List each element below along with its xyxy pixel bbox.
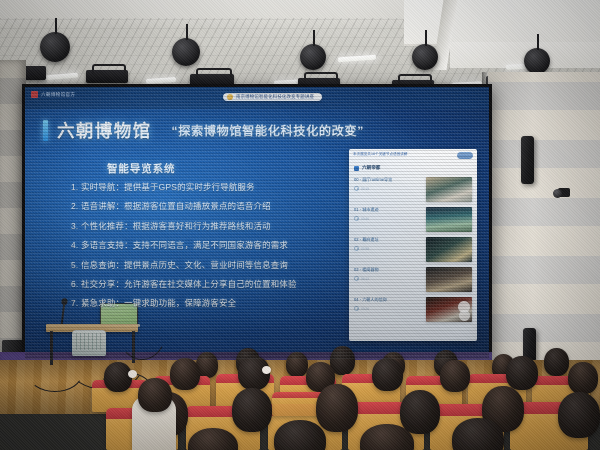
table-leg [50, 331, 53, 365]
play-icon[interactable] [354, 246, 359, 251]
track-duration: 04:12 [361, 277, 369, 281]
audience-head [104, 362, 132, 392]
play-icon[interactable] [354, 306, 359, 311]
wall-speaker-icon [521, 136, 534, 184]
track-duration: 03:26 [361, 307, 369, 311]
app-track-list: 00 - 展厅runtime导览 02:15 01 - 城市遗迹 03:40 [349, 174, 477, 324]
hair-tie [262, 366, 271, 374]
audience-head [506, 356, 538, 390]
section-heading: 智能导览系统 [107, 161, 175, 176]
banner-emblem-icon [227, 94, 233, 100]
audience-head [286, 352, 308, 377]
list-item: 7. 紧急求助：一键求助功能，保障游客安全 [71, 297, 371, 309]
slide-subtitle: “探索博物馆智能化科技化的改变” [172, 121, 364, 139]
light-yoke [398, 74, 432, 84]
page-title: 六朝博物馆 [57, 118, 152, 143]
stage-spotlight [172, 38, 200, 66]
top-banner: 南京博物馆智能化科技化改变专题讲座 [223, 93, 322, 101]
audio-guide-app-panel[interactable]: 本次展览共18个关键节点语音讲解 六朝帝都 00 - 展厅runtime导览 0… [349, 149, 477, 341]
spotlight-arm [537, 34, 539, 50]
bullet-list: 1. 实时导航：提供基于GPS的实时步行导航服务 2. 语音讲解：根据游客位置自… [71, 181, 371, 317]
thumbnail-badge-icon [459, 310, 470, 321]
audience-head [232, 388, 272, 432]
app-play-all-button[interactable] [457, 152, 473, 159]
play-icon[interactable] [354, 186, 359, 191]
wall-camera-icon [558, 188, 570, 197]
track-duration: 02:58 [361, 247, 369, 251]
spotlight-arm [313, 30, 315, 46]
hair-tie [128, 370, 137, 378]
list-item: 2. 语音讲解：根据游客位置自动播放景点的语音介绍 [71, 200, 371, 212]
stage-spotlight [412, 44, 438, 70]
track-thumbnail[interactable] [426, 267, 472, 292]
track-thumbnail[interactable] [426, 237, 472, 262]
list-item: 5. 信息查询：提供景点历史、文化、营业时间等信息查询 [71, 259, 371, 271]
brand-badge-label: 六朝博物馆官方 [41, 92, 75, 98]
stage-spotlight [40, 32, 70, 62]
brand-square-icon [31, 91, 38, 98]
list-item: 4. 多语言支持：支持不同语言，满足不同国家游客的需求 [71, 239, 371, 251]
slide-title-row: 六朝博物馆 “探索博物馆智能化科技化的改变” [25, 111, 489, 149]
app-panel-header: 本次展览共18个关键节点语音讲解 [349, 149, 477, 164]
wall-right-shading [488, 72, 600, 372]
list-item[interactable]: 01 - 城市遗迹 03:40 [349, 204, 477, 234]
audience-head [400, 390, 440, 434]
audience-head [558, 392, 600, 438]
presenter-chair [72, 330, 106, 356]
play-icon[interactable] [354, 276, 359, 281]
track-label: 00 - 展厅runtime导览 [354, 177, 426, 183]
lecture-hall-photo: 六朝博物馆官方 南京博物馆智能化科技化改变专题讲座 六朝博物馆 “探索博物馆智能… [0, 0, 600, 450]
audience-head [544, 348, 569, 376]
list-item[interactable]: 04 - 六朝人的信仰 03:26 [349, 294, 477, 324]
audience-head [316, 384, 358, 432]
list-item: 1. 实时导航：提供基于GPS的实时步行导航服务 [71, 181, 371, 193]
audience-head [170, 358, 200, 390]
light-yoke [92, 64, 126, 74]
audience-head [452, 418, 504, 450]
top-banner-label: 南京博物馆智能化科技化改变专题讲座 [236, 94, 314, 100]
spotlight-arm [186, 24, 188, 40]
track-label: 04 - 六朝人的信仰 [354, 297, 426, 303]
track-thumbnail[interactable] [426, 297, 472, 322]
track-duration: 02:15 [361, 187, 369, 191]
light-yoke [196, 68, 232, 78]
ceiling-soffit [404, 0, 600, 46]
play-icon[interactable] [354, 216, 359, 221]
track-label: 01 - 城市遗迹 [354, 207, 426, 213]
light-yoke [304, 72, 338, 82]
app-panel-title: 六朝帝都 [362, 165, 380, 171]
track-label: 03 - 楼阁器物 [354, 267, 426, 273]
list-item[interactable]: 03 - 楼阁器物 04:12 [349, 264, 477, 294]
track-label: 02 - 幕府遗址 [354, 237, 426, 243]
stage-spotlight [524, 48, 550, 74]
app-header-label: 本次展览共18个关键节点语音讲解 [353, 152, 448, 157]
list-item: 6. 社交分享：允许游客在社交媒体上分享自己的位置和体验 [71, 278, 371, 290]
brand-badge: 六朝博物馆官方 [31, 91, 75, 98]
title-accent-bar [43, 120, 48, 141]
spotlight-arm [55, 18, 57, 34]
app-panel-title-row: 六朝帝都 [349, 165, 477, 171]
track-thumbnail[interactable] [426, 177, 472, 202]
audience-head [568, 362, 598, 394]
audience-head [440, 360, 470, 392]
led-screen[interactable]: 六朝博物馆官方 南京博物馆智能化科技化改变专题讲座 六朝博物馆 “探索博物馆智能… [25, 87, 489, 359]
spotlight-arm [425, 30, 427, 46]
list-item: 3. 个性化推荐：根据游客喜好和行为推荐路线和活动 [71, 220, 371, 232]
stage-spotlight [300, 44, 326, 70]
list-item[interactable]: 02 - 幕府遗址 02:58 [349, 234, 477, 264]
chair-slats [76, 333, 102, 350]
audience-head [138, 378, 172, 412]
track-duration: 03:40 [361, 217, 369, 221]
museum-icon [354, 166, 359, 171]
list-item[interactable]: 00 - 展厅runtime导览 02:15 [349, 174, 477, 204]
audience-head [372, 358, 403, 391]
track-thumbnail[interactable] [426, 207, 472, 232]
